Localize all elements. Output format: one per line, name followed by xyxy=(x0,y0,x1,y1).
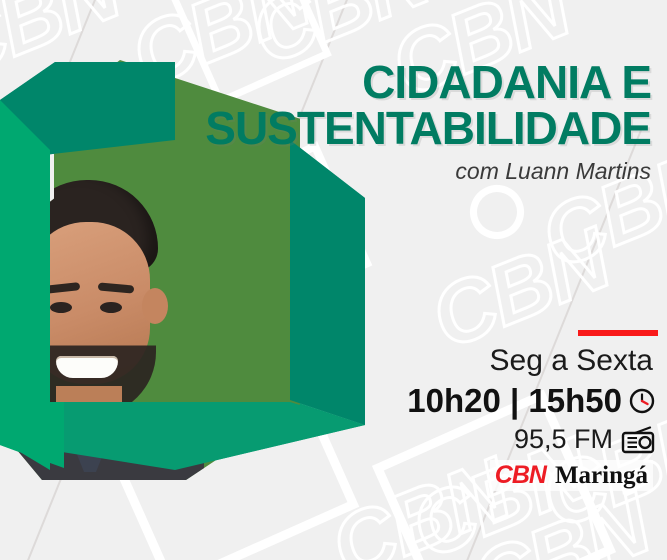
figure-eye-right xyxy=(100,302,122,313)
station-logo: CBN Maringá xyxy=(490,460,653,491)
frequency-label: 95,5 FM xyxy=(514,424,613,455)
schedule-days: Seg a Sexta xyxy=(490,344,653,378)
radio-icon xyxy=(621,426,655,454)
host-figure xyxy=(0,180,204,480)
clock-icon xyxy=(629,388,655,414)
figure-eye-left xyxy=(50,302,72,313)
cube-right-edge xyxy=(358,200,365,425)
logo-city: Maringá xyxy=(555,462,648,490)
schedule-times-row: 10h20 | 15h50 xyxy=(407,382,655,420)
figure-smile xyxy=(56,356,118,378)
schedule-frequency-row: 95,5 FM xyxy=(514,424,655,455)
logo-network: CBN xyxy=(495,461,546,490)
red-divider xyxy=(578,330,658,336)
promo-banner: CBNCBNCBNCBNCBNCBNCBNCBNCBNCBN xyxy=(0,0,667,560)
cube-right-face xyxy=(290,140,365,425)
program-host-subtitle: com Luann Martins xyxy=(455,158,651,185)
program-title-line-1: CIDADANIA E xyxy=(362,60,651,104)
schedule-times-label: 10h20 | 15h50 xyxy=(407,382,622,420)
figure-ear xyxy=(142,288,168,324)
program-title-line-2: SUSTENTABILIDADE xyxy=(205,106,651,150)
